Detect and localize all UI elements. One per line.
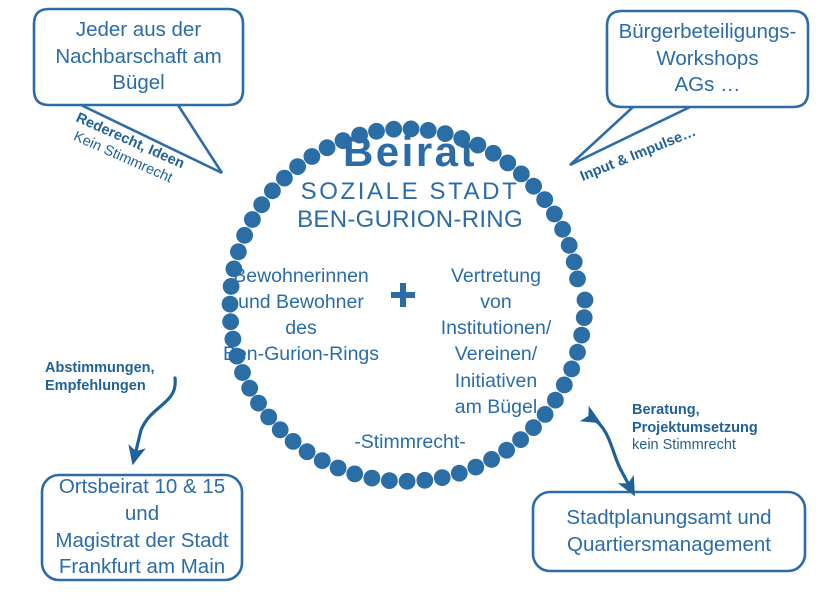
center-column-left: Bewohnerinnen und Bewohner des Ben-Gurio…: [208, 263, 394, 368]
bubble-line: Bügel: [112, 70, 164, 97]
bubble-line: Workshops: [656, 46, 758, 73]
ring-dot: [399, 473, 416, 490]
ring-dot: [451, 465, 468, 482]
bubble-line: Bürgerbeteiligungs-: [619, 19, 797, 46]
bubble-line: Jeder aus der: [76, 17, 201, 44]
center-column-left-line: Ben-Gurion-Rings: [208, 341, 394, 367]
page-title: Beirat: [0, 128, 820, 176]
bubble-line: AGs …: [674, 72, 740, 99]
ring-dot: [314, 452, 331, 469]
box-bottom-right[interactable]: Stadtplanungsamt und Quartiersmanagement: [533, 492, 805, 571]
center-column-right-line: Institutionen/: [416, 315, 576, 341]
box-line: Ortsbeirat 10 & 15: [59, 474, 225, 501]
ring-dot: [330, 460, 347, 477]
diagram-canvas: Jeder aus der Nachbarschaft am Bügel Red…: [0, 0, 820, 600]
ring-dot: [364, 470, 381, 487]
ring-dot: [241, 380, 258, 397]
center-column-left-line: Bewohnerinnen: [208, 263, 394, 289]
box-line: Frankfurt am Main: [59, 554, 225, 581]
ring-dot: [381, 472, 398, 489]
connector-label-bold-1: Beratung,: [632, 402, 758, 420]
box-line: Quartiersmanagement: [567, 532, 771, 559]
center-column-right-line: am Bügel: [416, 394, 576, 420]
box-bottom-left[interactable]: Ortsbeirat 10 & 15 und Magistrat der Sta…: [42, 475, 242, 580]
center-column-right-line: von: [416, 289, 576, 315]
ring-dot: [346, 466, 363, 483]
page-subtitle-1: SOZIALE STADT: [0, 178, 820, 206]
connector-label-bold-1: Abstimmungen,: [45, 360, 155, 378]
connector-label-beratung: Beratung, Projektumsetzung kein Stimmrec…: [632, 402, 758, 455]
ring-dot: [434, 469, 451, 486]
ring-dot: [577, 292, 594, 309]
center-column-right: Vertretung von Institutionen/ Vereinen/ …: [416, 263, 576, 420]
bubble-top-right[interactable]: Bürgerbeteiligungs- Workshops AGs …: [607, 11, 808, 107]
center-column-right-line: Vertretung: [416, 263, 576, 289]
ring-dot: [230, 243, 247, 260]
center-column-right-line: Initiativen: [416, 368, 576, 394]
center-column-right-line: Vereinen/: [416, 341, 576, 367]
bubble-line: Nachbarschaft am: [55, 44, 221, 71]
connector-label-bold-2: Projektumsetzung: [632, 420, 758, 438]
ring-dot: [416, 472, 433, 489]
ring-dot: [250, 395, 267, 412]
center-column-left-line: des: [208, 315, 394, 341]
ring-dot: [561, 237, 578, 254]
center-column-left-line: und Bewohner: [208, 289, 394, 315]
plus-icon: [390, 282, 416, 308]
box-line: Magistrat der Stadt: [55, 528, 228, 555]
connector-label-regular: kein Stimmrecht: [632, 437, 758, 455]
ring-dot: [260, 409, 277, 426]
box-line: und: [125, 501, 159, 528]
connector-label-bold-2: Empfehlungen: [45, 378, 155, 396]
ring-dot: [467, 459, 484, 476]
box-line: Stadtplanungsamt und: [566, 505, 771, 532]
bubble-top-left[interactable]: Jeder aus der Nachbarschaft am Bügel: [34, 9, 243, 105]
page-subtitle-2: BEN-GURION-RING: [0, 206, 820, 234]
ring-dot: [576, 309, 593, 326]
connector-label-abstimmungen: Abstimmungen, Empfehlungen: [45, 360, 155, 395]
